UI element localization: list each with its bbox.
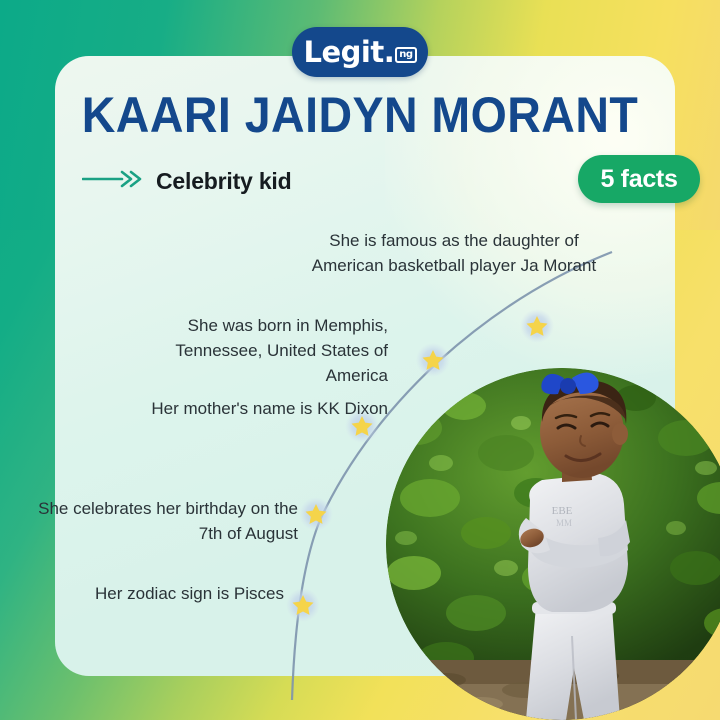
brand-logo[interactable]: Legit.ng (292, 27, 428, 77)
svg-text:MM: MM (556, 518, 572, 528)
page-title: KAARI JAIDYN MORANT (25, 88, 695, 142)
arrow-right-double-chevron-icon (82, 170, 144, 193)
brand-logo-text: Legit.ng (303, 38, 416, 67)
subtitle-row: Celebrity kid (82, 168, 291, 195)
page-subtitle: Celebrity kid (156, 168, 291, 195)
brand-logo-dot: . (384, 38, 395, 67)
brand-logo-word: Legit (303, 38, 383, 67)
subject-photo: EBE MM (386, 368, 720, 720)
fact-item: She celebrates her birthday on the 7th o… (30, 496, 298, 546)
fact-item: She is famous as the daughter of America… (300, 228, 608, 278)
photo-illustration: EBE MM (386, 368, 720, 720)
fact-item: Her mother's name is KK Dixon (60, 396, 388, 421)
fact-item: Her zodiac sign is Pisces (40, 581, 284, 606)
fact-item: She was born in Memphis, Tennessee, Unit… (120, 313, 388, 388)
facts-count-label: 5 facts (600, 165, 677, 194)
facts-count-badge: 5 facts (578, 155, 700, 203)
svg-text:EBE: EBE (552, 505, 573, 517)
brand-logo-tld: ng (395, 47, 416, 63)
infographic-canvas: EBE MM (0, 0, 720, 720)
